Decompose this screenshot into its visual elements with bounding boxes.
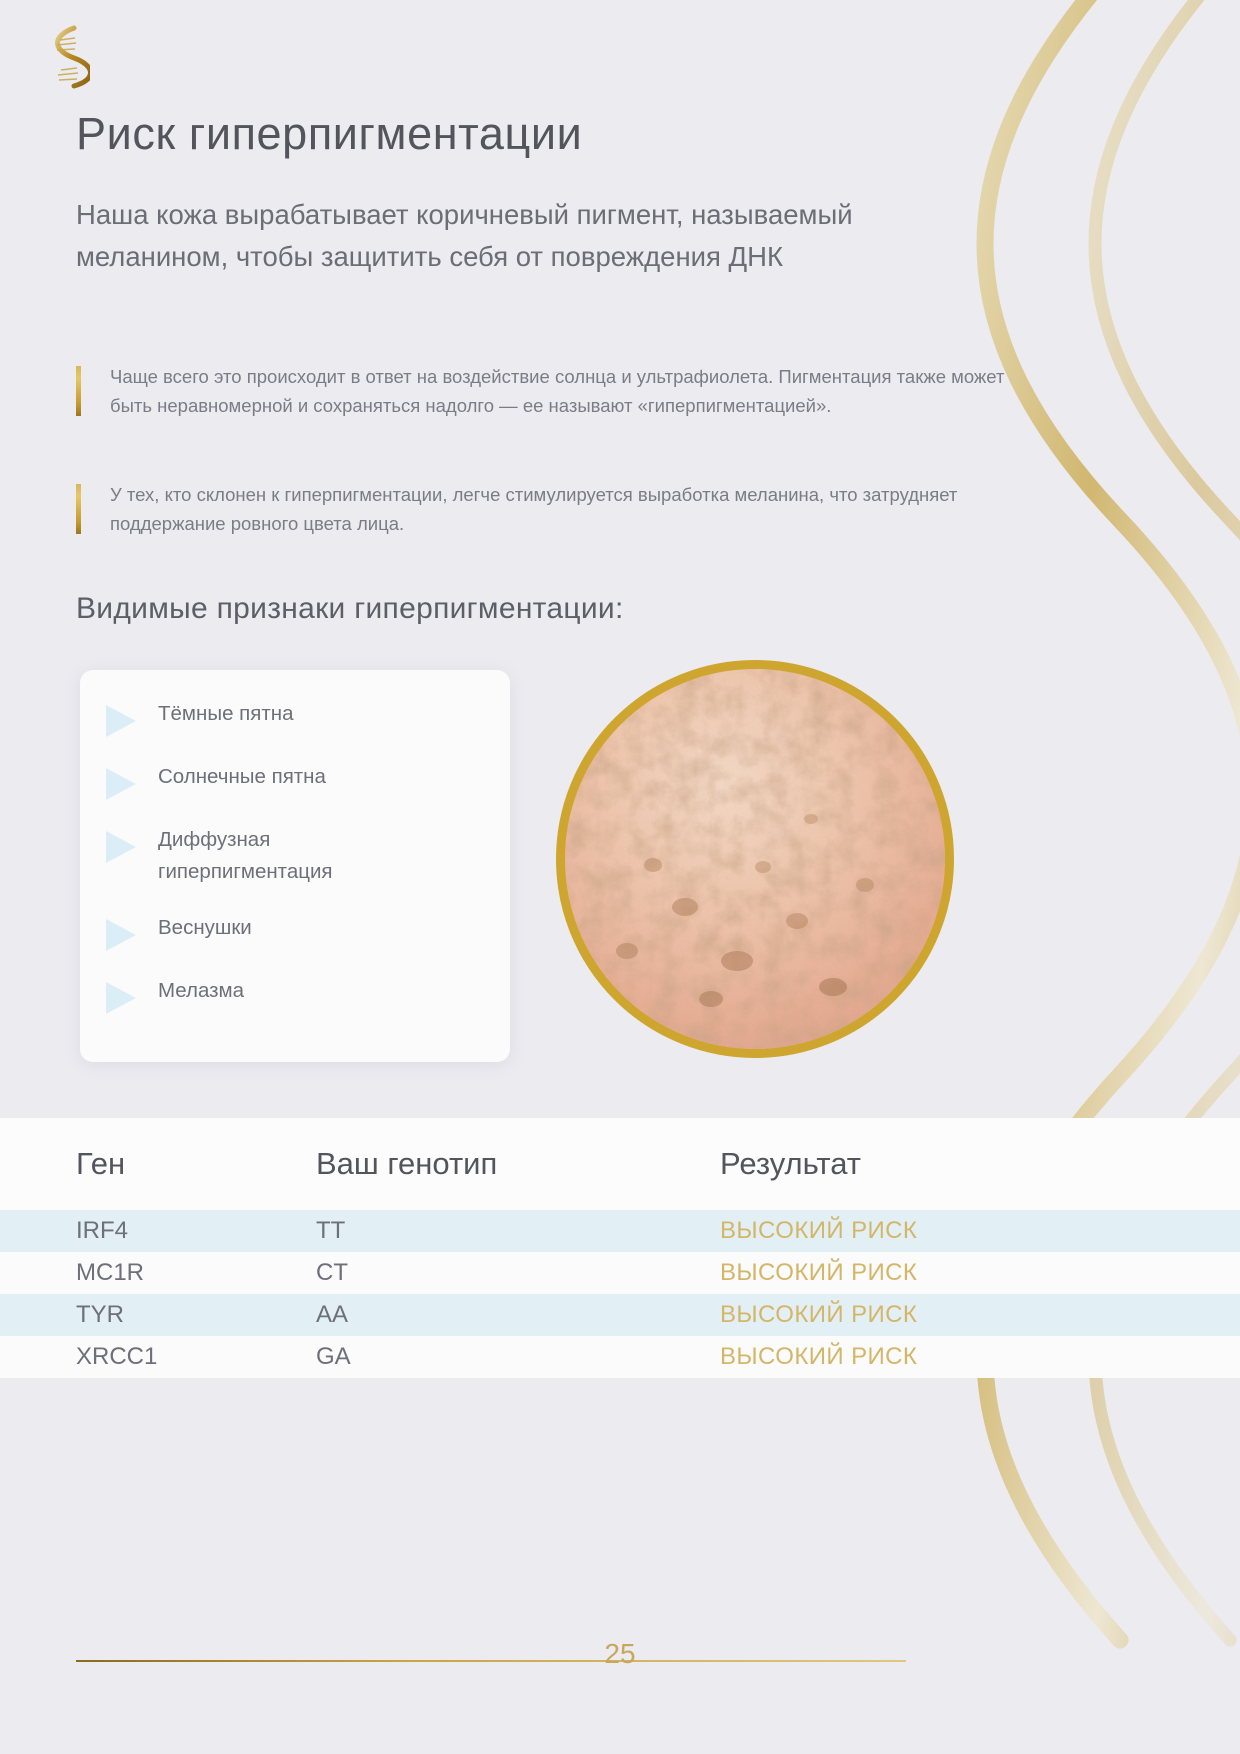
triangle-right-icon bbox=[106, 982, 136, 1014]
list-item: Солнечные пятна bbox=[106, 761, 492, 800]
cell-genotype: TT bbox=[316, 1217, 720, 1245]
cell-gene: TYR bbox=[0, 1301, 316, 1329]
status-badge: ВЫСОКИЙ РИСК bbox=[720, 1301, 1240, 1329]
triangle-right-icon bbox=[106, 768, 136, 800]
list-item: Мелазма bbox=[106, 975, 492, 1014]
triangle-right-icon bbox=[106, 705, 136, 737]
callout-quote-2: У тех, кто склонен к гиперпигментации, л… bbox=[76, 480, 1006, 538]
table-row: MC1R CT ВЫСОКИЙ РИСК bbox=[0, 1252, 1240, 1294]
list-item-label: Веснушки bbox=[158, 912, 252, 944]
visible-signs-card: Тёмные пятна Солнечные пятна Диффузная г… bbox=[80, 670, 510, 1062]
skin-photo-image bbox=[565, 669, 945, 1049]
triangle-right-icon bbox=[106, 831, 136, 863]
cell-gene: MC1R bbox=[0, 1259, 316, 1287]
skin-closeup-photo bbox=[556, 660, 954, 1058]
triangle-right-icon bbox=[106, 919, 136, 951]
list-item-label: Тёмные пятна bbox=[158, 698, 293, 730]
page-title: Риск гиперпигментации bbox=[76, 108, 582, 160]
cell-genotype: CT bbox=[316, 1259, 720, 1287]
page-number: 25 bbox=[0, 1638, 1240, 1670]
list-item: Диффузная гиперпигментация bbox=[106, 824, 492, 888]
list-item: Тёмные пятна bbox=[106, 698, 492, 737]
cell-gene: XRCC1 bbox=[0, 1343, 316, 1371]
cell-genotype: AA bbox=[316, 1301, 720, 1329]
report-page: Риск гиперпигментации Наша кожа вырабаты… bbox=[0, 0, 1240, 1754]
section-heading-visible-signs: Видимые признаки гиперпигментации: bbox=[76, 592, 624, 626]
column-header-gene: Ген bbox=[0, 1146, 316, 1182]
dna-helix-icon bbox=[44, 24, 90, 90]
table-row: XRCC1 GA ВЫСОКИЙ РИСК bbox=[0, 1336, 1240, 1378]
table-row: TYR AA ВЫСОКИЙ РИСК bbox=[0, 1294, 1240, 1336]
genotype-results-table: Ген Ваш генотип Результат IRF4 TT ВЫСОКИ… bbox=[0, 1118, 1240, 1378]
list-item-label: Мелазма bbox=[158, 975, 244, 1007]
table-row: IRF4 TT ВЫСОКИЙ РИСК bbox=[0, 1210, 1240, 1252]
list-item: Веснушки bbox=[106, 912, 492, 951]
column-header-result: Результат bbox=[720, 1146, 1240, 1182]
callout-quote-1: Чаще всего это происходит в ответ на воз… bbox=[76, 362, 1006, 420]
lead-paragraph: Наша кожа вырабатывает коричневый пигмен… bbox=[76, 194, 936, 278]
table-header-row: Ген Ваш генотип Результат bbox=[0, 1118, 1240, 1210]
visible-signs-list: Тёмные пятна Солнечные пятна Диффузная г… bbox=[106, 698, 492, 1014]
cell-gene: IRF4 bbox=[0, 1217, 316, 1245]
status-badge: ВЫСОКИЙ РИСК bbox=[720, 1259, 1240, 1287]
cell-genotype: GA bbox=[316, 1343, 720, 1371]
column-header-genotype: Ваш генотип bbox=[316, 1146, 720, 1182]
status-badge: ВЫСОКИЙ РИСК bbox=[720, 1217, 1240, 1245]
status-badge: ВЫСОКИЙ РИСК bbox=[720, 1343, 1240, 1371]
list-item-label: Солнечные пятна bbox=[158, 761, 326, 793]
list-item-label: Диффузная гиперпигментация bbox=[158, 824, 438, 888]
